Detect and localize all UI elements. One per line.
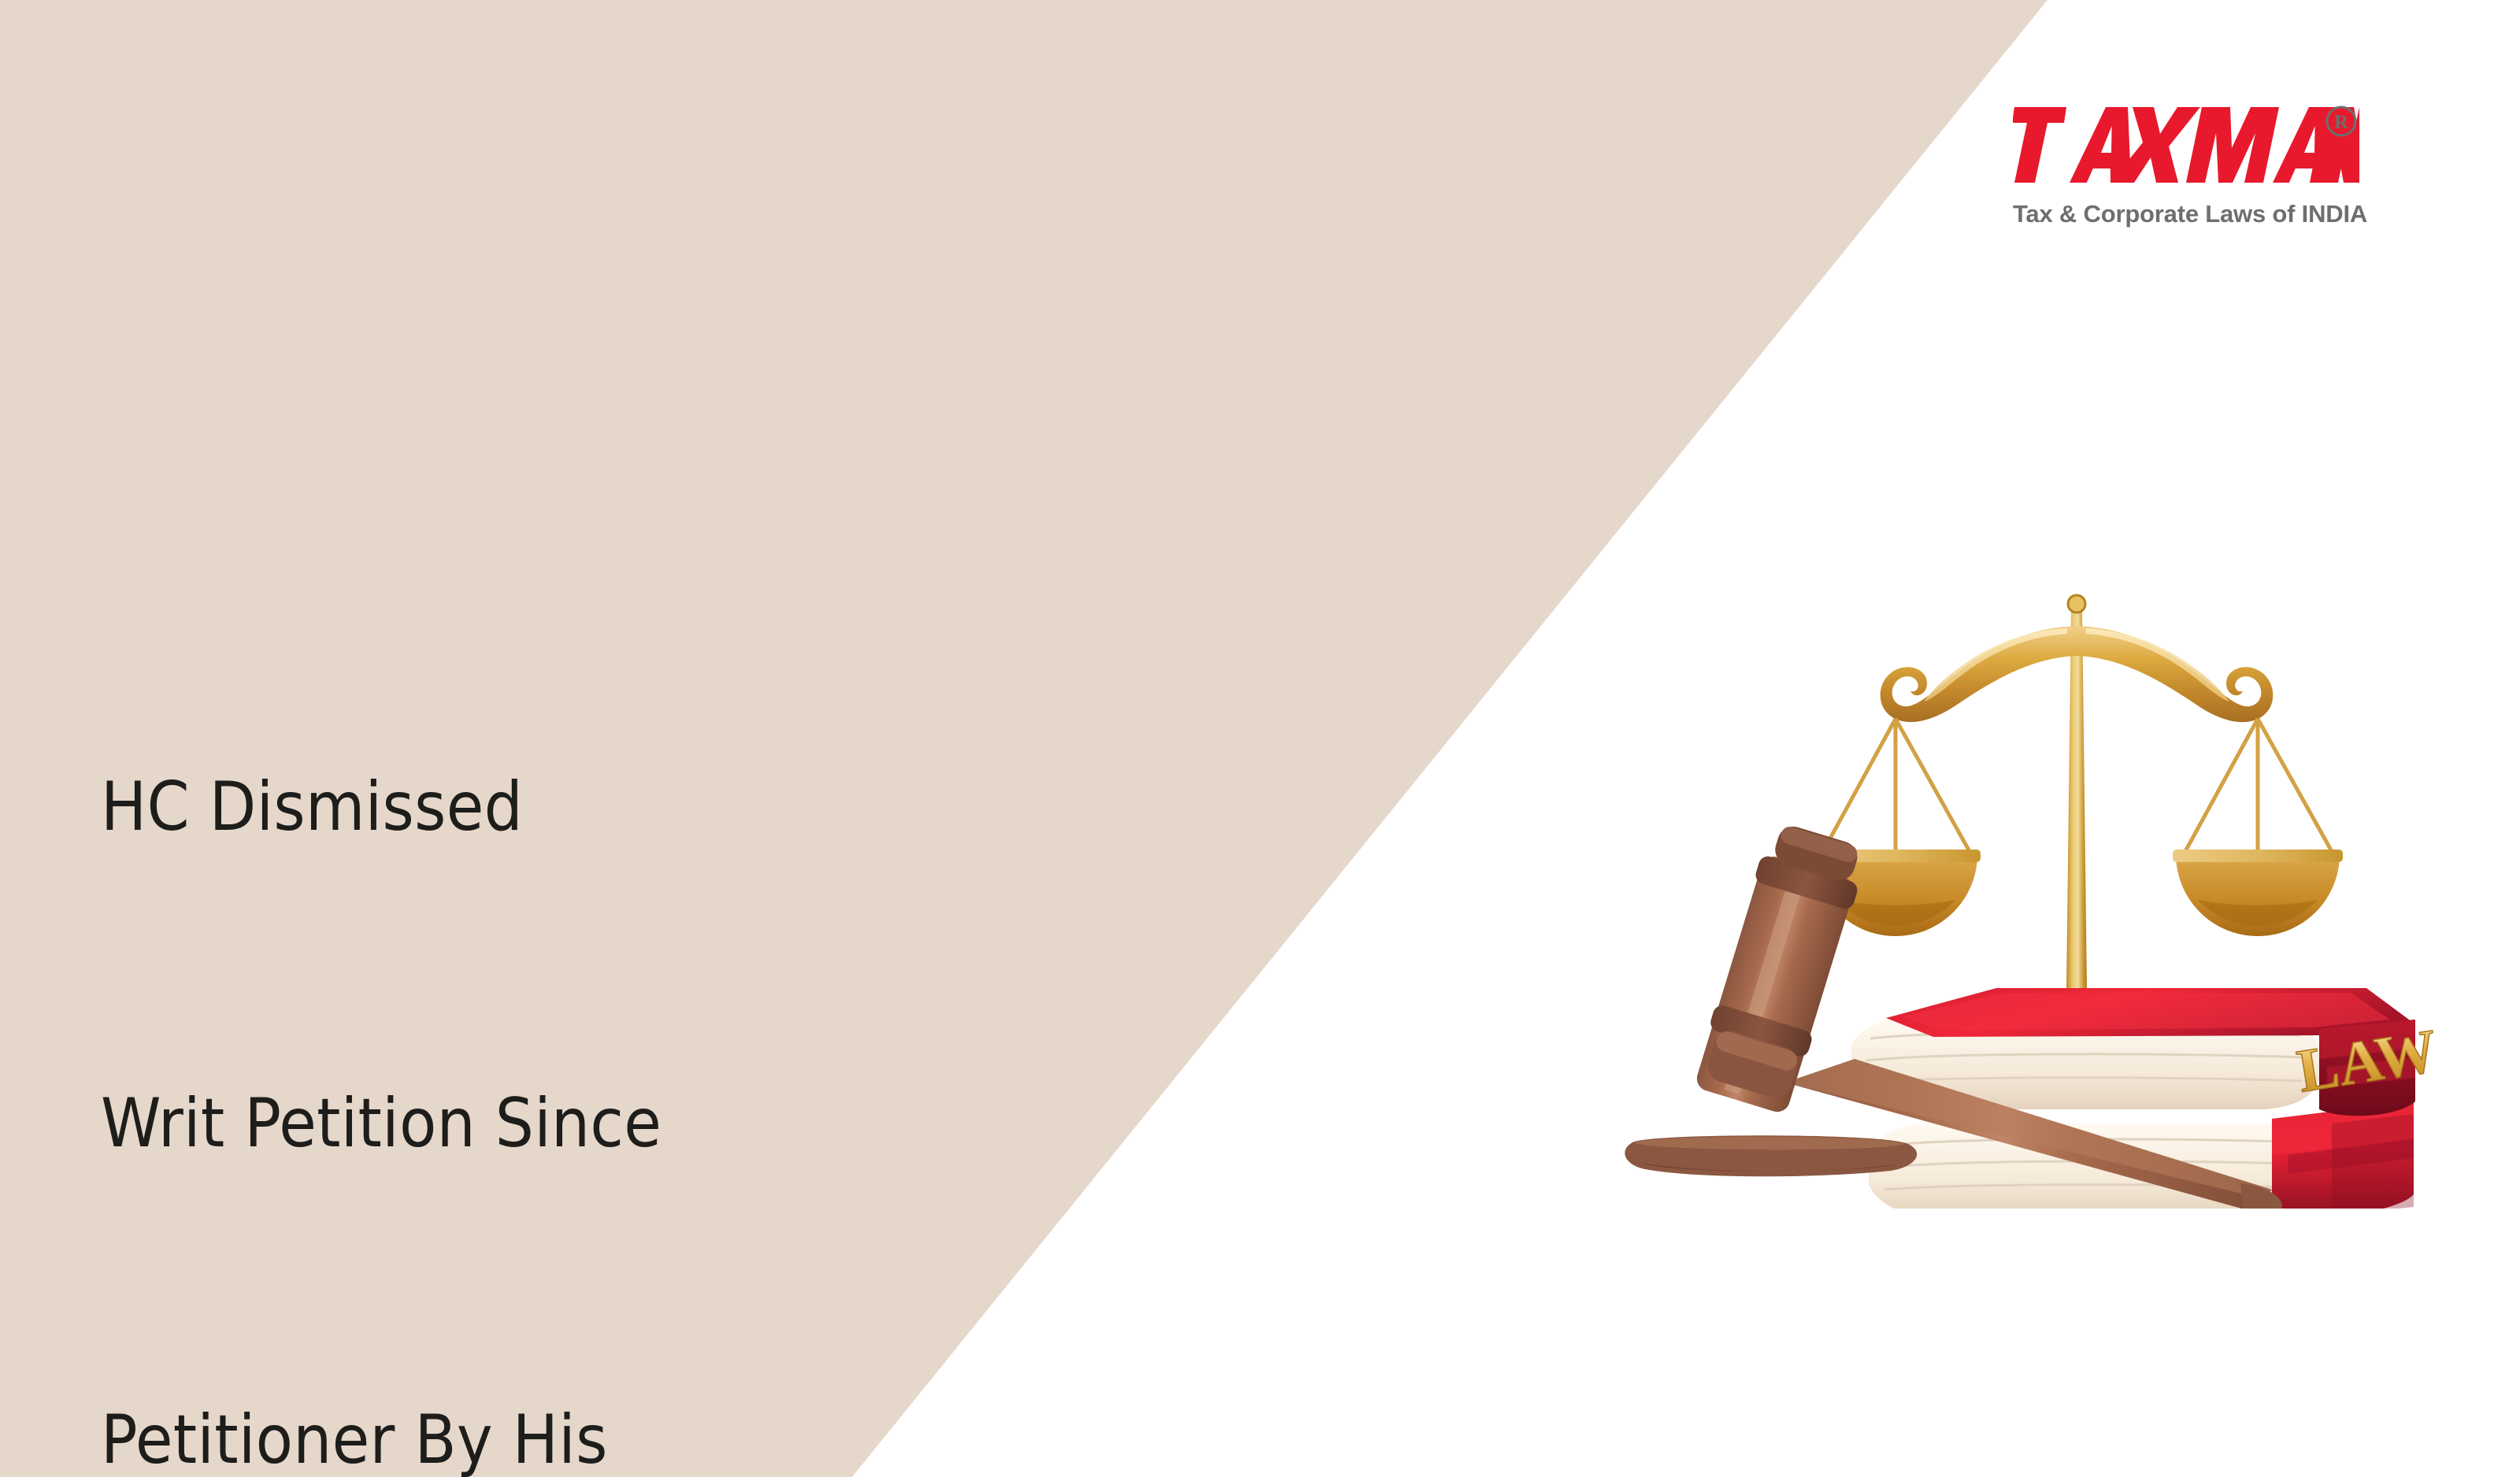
logo-wordmark-wrap: R [2013,101,2407,197]
poster-canvas: HC Dismissed Writ Petition Since Petitio… [0,0,2520,1477]
page-title: HC Dismissed Writ Petition Since Petitio… [101,543,728,1477]
svg-text:R: R [2334,112,2349,133]
headline-line-1: HC Dismissed [101,754,728,860]
taxmann-wordmark-icon [2013,101,2359,189]
scale-pan-right [2173,850,2343,936]
registered-trademark-icon: R [2324,104,2359,139]
headline-line-2: Writ Petition Since [101,1071,728,1176]
headline-line-3: Petitioner By His [101,1387,728,1477]
taxmann-logo: R Tax & Corporate Laws of INDIA [2013,101,2407,228]
scales-of-justice-illustration: LAW [1618,516,2461,1209]
logo-tagline: Tax & Corporate Laws of INDIA [2013,200,2407,228]
gavel-sound-block-icon [1625,1135,1917,1176]
